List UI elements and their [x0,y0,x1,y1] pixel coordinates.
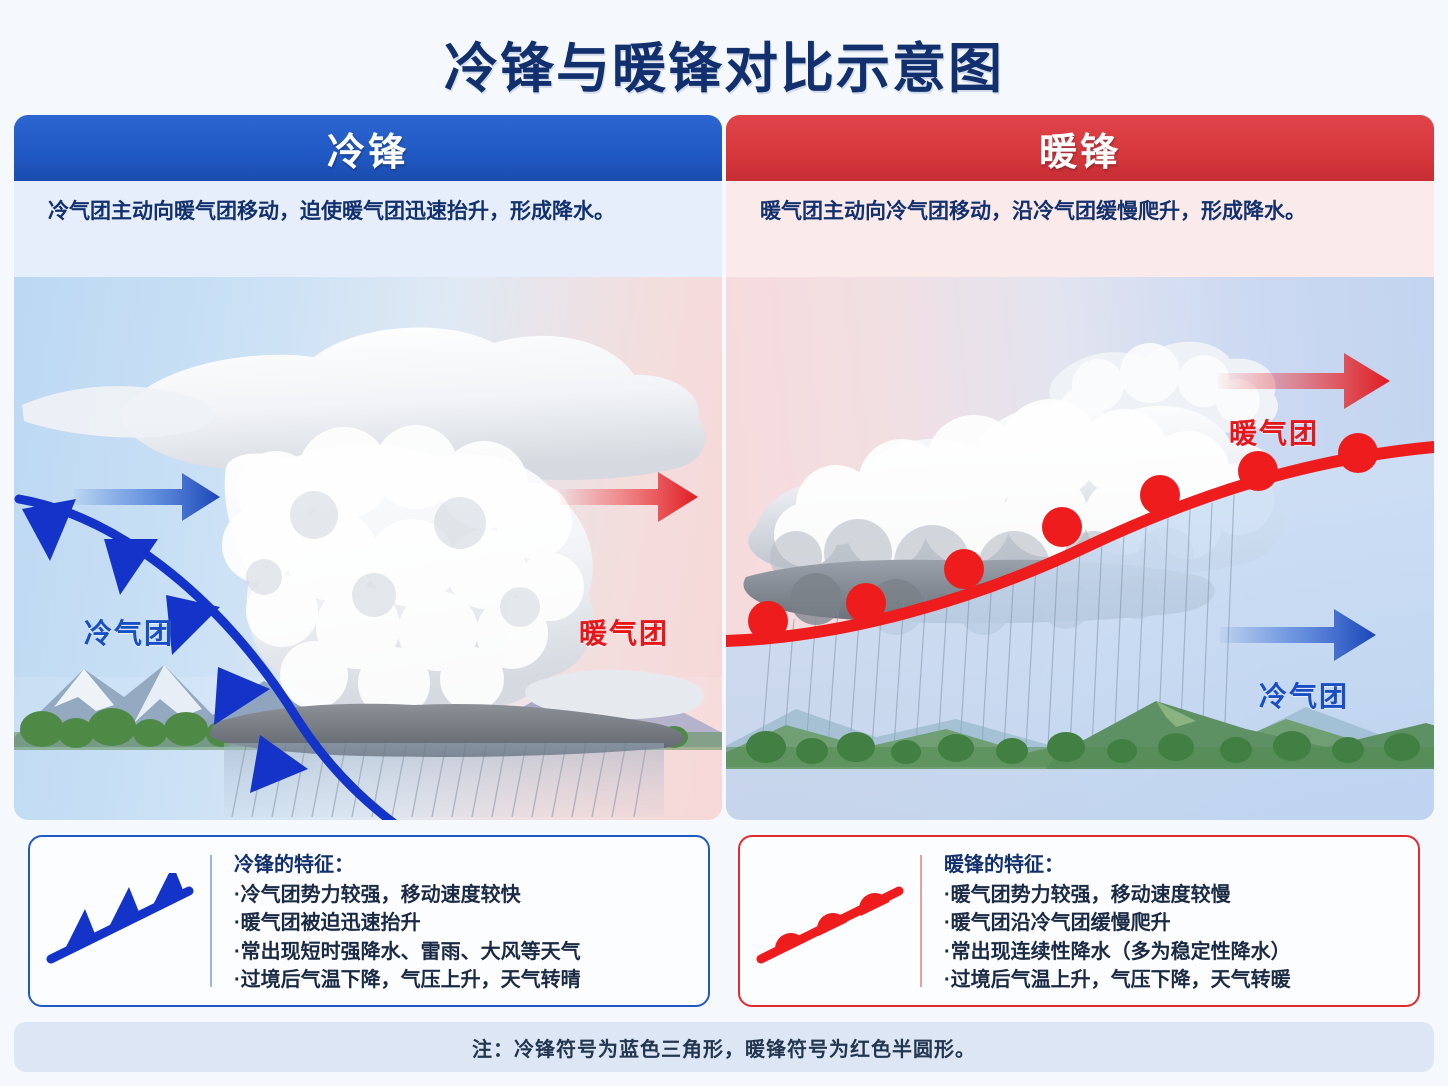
cold-front-panel: 冷锋 冷气团主动向暖气团移动，迫使暖气团迅速抬升，形成降水。 [14,115,722,820]
cold-feature-item-4: ·过境后气温下降，气压上升，天气转晴 [234,966,698,994]
cold-front-header: 冷锋 [14,115,722,181]
warm-air-mass-label-top: 暖气团 [1229,412,1319,452]
cold-feature-title: 冷锋的特征： [234,848,698,877]
warm-front-feature-box: 暖锋的特征： ·暖气团势力较强，移动速度较慢 ·暖气团沿冷气团缓慢爬升 ·常出现… [738,835,1420,1007]
cold-feature-item-1: ·冷气团势力较强，移动速度较快 [234,881,698,909]
warm-feature-item-4: ·过境后气温上升，气压下降，天气转暖 [944,966,1408,994]
warm-front-illustration: 暖气团 冷气团 [726,277,1434,820]
cold-air-mass-label-bottom: 冷气团 [1259,675,1349,715]
warm-front-description: 暖气团主动向冷气团移动，沿冷气团缓慢爬升，形成降水。 [726,181,1434,277]
footer-note: 注：冷锋符号为蓝色三角形，暖锋符号为红色半圆形。 [14,1022,1434,1072]
cold-feature-item-3: ·常出现短时强降水、雷雨、大风等天气 [234,938,698,966]
cold-front-feature-box: 冷锋的特征： ·冷气团势力较强，移动速度较快 ·暖气团被迫迅速抬升 ·常出现短时… [28,835,710,1007]
warm-feature-title: 暖锋的特征： [944,848,1408,877]
panels-container: 冷锋 冷气团主动向暖气团移动，迫使暖气团迅速抬升，形成降水。 [14,115,1434,820]
warm-front-header: 暖锋 [726,115,1434,181]
cold-front-scene-svg [14,277,722,820]
diagram-page: 冷锋与暖锋对比示意图 冷锋 冷气团主动向暖气团移动，迫使暖气团迅速抬升，形成降水… [0,0,1448,1086]
cold-front-illustration: 冷气团 暖气团 [14,277,722,820]
warm-feature-item-2: ·暖气团沿冷气团缓慢爬升 [944,909,1408,937]
warm-front-semicircles-icon [740,873,920,969]
blue-right-arrow-icon [74,473,220,521]
warm-front-panel: 暖锋 暖气团主动向冷气团移动，沿冷气团缓慢爬升，形成降水。 [726,115,1434,820]
warm-air-mass-label-right: 暖气团 [579,612,669,652]
cold-feature-item-2: ·暖气团被迫迅速抬升 [234,909,698,937]
feature-boxes: 冷锋的特征： ·冷气团势力较强，移动速度较快 ·暖气团被迫迅速抬升 ·常出现短时… [28,835,1420,1010]
cold-front-description: 冷气团主动向暖气团移动，迫使暖气团迅速抬升，形成降水。 [14,181,722,277]
heavy-rain-icon [224,743,664,817]
cold-feature-text: 冷锋的特征： ·冷气团势力较强，移动速度较快 ·暖气团被迫迅速抬升 ·常出现短时… [212,838,708,1005]
warm-front-scene-svg [726,277,1434,820]
cold-front-triangles-icon [30,873,210,969]
page-title: 冷锋与暖锋对比示意图 [0,24,1448,103]
warm-feature-item-1: ·暖气团势力较强，移动速度较慢 [944,881,1408,909]
cold-air-mass-label-left: 冷气团 [84,612,174,652]
warm-feature-item-3: ·常出现连续性降水（多为稳定性降水） [944,938,1408,966]
warm-feature-text: 暖锋的特征： ·暖气团势力较强，移动速度较慢 ·暖气团沿冷气团缓慢爬升 ·常出现… [922,838,1418,1005]
